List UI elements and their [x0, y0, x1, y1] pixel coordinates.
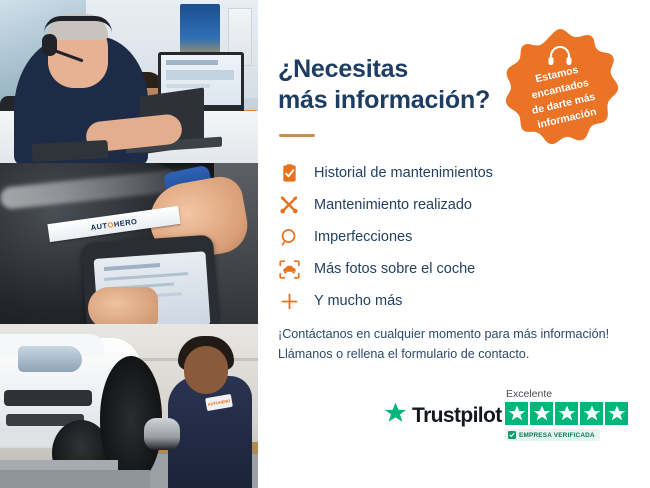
- car-lift-arm: [0, 460, 118, 470]
- trustpilot-star-filled: [530, 402, 553, 425]
- car-headlight: [18, 346, 82, 372]
- trustpilot-stars: [505, 402, 628, 425]
- contact-paragraph: ¡Contáctanos en cualquier momento para m…: [278, 325, 628, 364]
- feature-item-imperfections: Imperfecciones: [278, 221, 628, 253]
- verified-company-label: EMPRESA VERIFICADA: [519, 432, 595, 439]
- photo-column: AUTOHERO: [0, 0, 258, 488]
- technician-glove: [144, 418, 180, 450]
- monitor-screen-toolbar: [166, 60, 218, 65]
- page-title-line-1: ¿Necesitas: [278, 54, 518, 85]
- trustpilot-star-filled: [580, 402, 603, 425]
- technician-head: [184, 346, 228, 394]
- contact-line-2: Llámanos o rellena el formulario de cont…: [278, 345, 628, 365]
- feature-item-maintenance-done: Mantenimiento realizado: [278, 189, 628, 221]
- feature-label: Mantenimiento realizado: [314, 198, 472, 213]
- feature-label: Y mucho más: [314, 294, 402, 309]
- wrench-screwdriver-icon: [278, 194, 300, 216]
- headset-earcup: [42, 34, 57, 56]
- verified-company-badge: EMPRESA VERIFICADA: [505, 429, 600, 441]
- call-center-agents-photo: [0, 0, 258, 163]
- car-lift-platform: [0, 470, 150, 488]
- trustpilot-rating-label: Excelente: [505, 388, 628, 400]
- monitor-screen-row: [166, 70, 234, 80]
- inspector-hand-lower: [88, 287, 158, 324]
- feature-item-much-more: Y mucho más: [278, 285, 628, 317]
- headset-icon: [547, 46, 573, 66]
- trustpilot-wordmark: Trustpilot: [412, 404, 502, 428]
- maintenance-history-icon: [278, 162, 300, 184]
- car-grille-upper: [4, 390, 92, 406]
- trustpilot-star-icon: [384, 402, 407, 429]
- verified-check-icon: [508, 431, 516, 439]
- workshop-wheel-check-photo: AUTOHERO: [0, 324, 258, 488]
- trustpilot-rating: Trustpilot Excelente: [384, 388, 650, 450]
- car-scan-photo-icon: [278, 258, 300, 280]
- trustpilot-logo: Trustpilot: [384, 402, 502, 429]
- feature-label: Historial de mantenimientos: [314, 166, 493, 181]
- contact-line-1: ¡Contáctanos en cualquier momento para m…: [278, 325, 628, 345]
- feature-label: Más fotos sobre el coche: [314, 262, 475, 277]
- trustpilot-star-filled: [505, 402, 528, 425]
- support-badge: Estamos encantados de darte más informac…: [497, 27, 623, 155]
- page-title: ¿Necesitas más información?: [278, 54, 518, 115]
- feature-list: Historial de mantenimientos Mantenimient…: [278, 157, 628, 317]
- vehicle-inspection-ruler-photo: AUTOHERO: [0, 163, 258, 324]
- trustpilot-star-filled: [605, 402, 628, 425]
- plus-icon: [278, 290, 300, 312]
- content-panel: ¿Necesitas más información? Estamos enca…: [258, 0, 650, 488]
- info-promo-card: AUTOHERO: [0, 0, 650, 488]
- feature-item-maintenance-history: Historial de mantenimientos: [278, 157, 628, 189]
- headset-band: [44, 16, 112, 33]
- trustpilot-score-block: Excelente: [505, 388, 628, 443]
- magnifier-icon: [278, 226, 300, 248]
- title-divider: [279, 134, 315, 137]
- trustpilot-star-filled: [555, 402, 578, 425]
- page-title-line-2: más información?: [278, 85, 518, 116]
- feature-label: Imperfecciones: [314, 230, 412, 245]
- feature-item-more-photos: Más fotos sobre el coche: [278, 253, 628, 285]
